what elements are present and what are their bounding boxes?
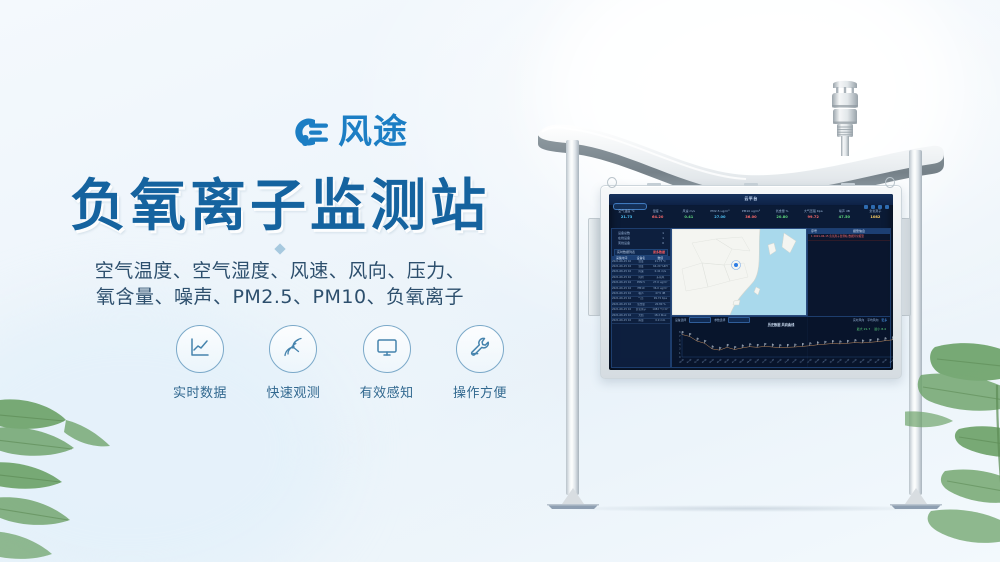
kpi-value: 21.73 xyxy=(611,214,642,220)
table-cell: 0.0 mm xyxy=(651,319,670,323)
table-cell: 20.80 % xyxy=(651,303,670,307)
support-pole-left xyxy=(566,140,579,495)
table-cell: 噪声 xyxy=(631,292,650,296)
svg-text:04:00: 04:00 xyxy=(709,358,715,364)
stat-value: 0 xyxy=(662,241,664,246)
display-housing: 云平台 空气温度 ℃ 21.73 xyxy=(600,185,902,379)
ground-shadow xyxy=(558,505,938,512)
chart-stat-min: 最小 8.4 xyxy=(874,327,886,331)
poster-canvas: 风途 负氧离子监测站 空气温度、空气湿度、风速、风向、压力、 氧含量、噪声、PM… xyxy=(0,0,1000,562)
table-cell: 2021-06-15 10:35 xyxy=(612,260,631,264)
table-cell: 温度 xyxy=(631,260,650,264)
svg-text:06:00: 06:00 xyxy=(724,358,730,364)
kpi-value: 0.41 xyxy=(673,214,704,220)
hanger-hook-left xyxy=(607,177,617,188)
table-cell: 27.0 ug/m³ xyxy=(651,281,670,285)
table-cell: 21.73 ℃ xyxy=(651,260,670,264)
kpi-value: 36.00 xyxy=(735,214,766,220)
svg-text:05:00: 05:00 xyxy=(717,358,723,364)
svg-text:16:00: 16:00 xyxy=(800,358,806,364)
history-line-chart: 013457800:0001:0002:0003:0004:0005:0006:… xyxy=(672,328,893,366)
feature-label: 实时数据 xyxy=(160,382,240,401)
table-cell: 气压 xyxy=(631,297,650,301)
svg-text:8: 8 xyxy=(679,331,681,334)
svg-text:14:00: 14:00 xyxy=(785,358,791,364)
kpi-strip: 空气温度 ℃ 21.73 湿度 % 64.20 风速 m/s 0.41 PM xyxy=(611,209,891,224)
chart-legend-2: 平均风向 xyxy=(867,318,878,322)
svg-text:3: 3 xyxy=(679,348,681,351)
table-cell: 64.20 %RH xyxy=(651,265,670,269)
table-cell: 36.0 ug/m³ xyxy=(651,287,670,291)
housing-tab-2 xyxy=(744,183,758,186)
svg-text:18:00: 18:00 xyxy=(815,358,821,364)
fengtu-c-logo-icon xyxy=(285,112,331,152)
alarm-row[interactable]: 1 2021-06-15 负氧离子监测站 数据异常报警 xyxy=(808,234,890,241)
svg-text:17:00: 17:00 xyxy=(807,358,813,364)
feature-label: 有效感知 xyxy=(347,382,427,401)
chart-select-label-2: 参数选择 xyxy=(714,318,725,322)
monitor-icon xyxy=(375,335,399,364)
hero-subtitle: 空气温度、空气湿度、风速、风向、压力、 氧含量、噪声、PM2.5、PM10、负氧… xyxy=(0,258,560,310)
wrench-icon xyxy=(468,335,492,364)
brand-logo: 风途 xyxy=(285,112,408,152)
kpi-value: 1082 xyxy=(860,214,891,220)
feature-icon-wrap xyxy=(456,325,504,373)
table-row[interactable]: 2021-06-15 10:35雨量0.0 mm xyxy=(612,319,670,324)
table-cell: 2021-06-15 10:35 xyxy=(612,265,631,269)
ultrasonic-weather-sensor-icon xyxy=(822,78,868,156)
table-cell: 氧含量 xyxy=(631,303,650,307)
table-cell: 2021-06-15 10:35 xyxy=(612,276,631,280)
table-cell: 2021-06-15 10:35 xyxy=(612,292,631,296)
svg-text:4: 4 xyxy=(679,344,681,347)
svg-text:20:00: 20:00 xyxy=(830,358,836,364)
alarm-col-index: 序号 xyxy=(811,229,817,233)
feature-item-realtime-data[interactable]: 实时数据 xyxy=(160,325,240,401)
kpi-value: 64.20 xyxy=(642,214,673,220)
table-cell: 47.5 dB xyxy=(651,292,670,296)
kpi-card: PM10 ug/m³ 36.00 xyxy=(735,209,766,224)
kpi-card: 空气温度 ℃ 21.73 xyxy=(611,209,642,224)
subtitle-line-2: 氧含量、噪声、PM2.5、PM10、负氧离子 xyxy=(0,284,560,310)
alarm-col-message: 报警信息 xyxy=(853,229,865,233)
table-cell: 雨量 xyxy=(631,319,650,323)
svg-text:19:00: 19:00 xyxy=(822,358,828,364)
table-cell: 风速 xyxy=(631,270,650,274)
feature-icon-wrap xyxy=(269,325,317,373)
table-cell: 2021-06-15 10:35 xyxy=(612,303,631,307)
kpi-card: 湿度 % 64.20 xyxy=(642,209,673,224)
svg-text:03:00: 03:00 xyxy=(702,358,708,364)
chart-more-button[interactable]: 更多 xyxy=(881,318,887,322)
dashboard-title: 云平台 xyxy=(609,196,893,202)
feature-icon-wrap xyxy=(176,325,224,373)
svg-text:03:00: 03:00 xyxy=(882,358,888,364)
table-cell: PM2.5 xyxy=(631,281,650,285)
svg-text:0: 0 xyxy=(679,356,681,359)
hanger-hook-right xyxy=(885,177,895,188)
svg-text:09:00: 09:00 xyxy=(747,358,753,364)
monitoring-station-device: 云平台 空气温度 ℃ 21.73 xyxy=(500,0,1000,562)
left-stats-panel: 设备总数 1 在线设备 1 离线设备 0 xyxy=(611,228,671,368)
svg-text:00:00: 00:00 xyxy=(679,358,685,364)
chart-stat-max: 最大 21.7 xyxy=(857,327,871,331)
svg-text:21:00: 21:00 xyxy=(837,358,843,364)
table-cell: 2021-06-15 10:35 xyxy=(612,319,631,323)
svg-text:15:00: 15:00 xyxy=(792,358,798,364)
table-cell: 2021-06-15 10:35 xyxy=(612,281,631,285)
history-chart-panel: 设备选择 参数选择 实时风向 平均风向 更多 历史数据 风向曲线 xyxy=(671,316,891,368)
svg-text:02:00: 02:00 xyxy=(875,358,881,364)
led-display-screen[interactable]: 云平台 空气温度 ℃ 21.73 xyxy=(609,194,893,370)
svg-text:11:00: 11:00 xyxy=(762,358,768,364)
stat-label: 离线设备 xyxy=(618,241,630,246)
table-cell: 2021-06-15 10:35 xyxy=(612,287,631,291)
brand-name: 风途 xyxy=(338,115,408,149)
data-table-title: 实时数据列表 xyxy=(617,250,635,254)
support-pole-right xyxy=(909,150,922,495)
svg-text:07:00: 07:00 xyxy=(732,358,738,364)
housing-tab-1 xyxy=(647,183,661,186)
table-cell: 2021-06-15 10:35 xyxy=(612,297,631,301)
table-cell: 风向 xyxy=(631,276,650,280)
svg-text:7: 7 xyxy=(679,335,681,338)
table-cell: 2021-06-15 10:35 xyxy=(612,308,631,312)
data-table-badge[interactable]: 更多数据 xyxy=(653,250,665,254)
kpi-card: 大气压强 Kpa 99.72 xyxy=(798,209,829,224)
kpi-value: 99.72 xyxy=(798,214,829,220)
svg-text:12:00: 12:00 xyxy=(769,358,775,364)
svg-text:01:00: 01:00 xyxy=(687,358,693,364)
svg-text:10:00: 10:00 xyxy=(754,358,760,364)
stat-row: 离线设备 0 xyxy=(612,241,670,246)
line-chart-icon xyxy=(188,335,212,364)
parameter-select[interactable] xyxy=(728,317,750,323)
dashboard-ui: 云平台 空气温度 ℃ 21.73 xyxy=(609,194,893,370)
page-title: 负氧离子监测站 xyxy=(0,161,560,242)
kpi-card: PM2.5 ug/m³ 27.00 xyxy=(704,209,735,224)
chart-select-label-1: 设备选择 xyxy=(675,318,686,322)
device-distribution-map[interactable] xyxy=(671,228,807,316)
table-cell: 负氧离子 xyxy=(631,308,650,312)
feature-label: 快速观测 xyxy=(253,382,333,401)
table-cell: 东南风 xyxy=(651,276,670,280)
kpi-value: 47.50 xyxy=(829,214,860,220)
radar-signal-icon xyxy=(281,335,305,364)
table-cell: 湿度 xyxy=(631,265,650,269)
dashboard-body: 设备总数 1 在线设备 1 离线设备 0 xyxy=(609,227,893,370)
svg-text:01:00: 01:00 xyxy=(867,358,873,364)
svg-text:02:00: 02:00 xyxy=(694,358,700,364)
table-cell: PM10 xyxy=(631,287,650,291)
svg-text:08:00: 08:00 xyxy=(739,358,745,364)
svg-text:04:00: 04:00 xyxy=(890,358,893,364)
svg-text:23:00: 23:00 xyxy=(852,358,858,364)
table-cell: 1082 个/cm³ xyxy=(651,308,670,312)
svg-text:00:00: 00:00 xyxy=(860,358,866,364)
svg-text:13:00: 13:00 xyxy=(777,358,783,364)
feature-list: 实时数据 快 xyxy=(160,325,520,401)
table-cell: 18.2 Klux xyxy=(651,314,670,318)
title-diamond-divider xyxy=(274,243,285,254)
chart-stats: 最大 21.7 最小 8.4 xyxy=(857,327,886,331)
table-cell: 0.41 m/s xyxy=(651,270,670,274)
svg-text:22:00: 22:00 xyxy=(845,358,851,364)
feature-icon-wrap xyxy=(363,325,411,373)
kpi-value: 27.00 xyxy=(704,214,735,220)
housing-tab-3 xyxy=(841,183,855,186)
data-table-body[interactable]: 2021-06-15 10:35温度21.73 ℃2021-06-15 10:3… xyxy=(612,260,670,325)
svg-text:1: 1 xyxy=(679,352,681,355)
kpi-card: 噪声 dB 47.50 xyxy=(829,209,860,224)
table-cell: 光照 xyxy=(631,314,650,318)
hero-text-column: 风途 负氧离子监测站 空气温度、空气湿度、风速、风向、压力、 氧含量、噪声、PM… xyxy=(0,0,560,562)
feature-item-fast-observation[interactable]: 快速观测 xyxy=(253,325,333,401)
kpi-card: 负氧离子 1082 xyxy=(860,209,891,224)
feature-item-effective-sensing[interactable]: 有效感知 xyxy=(347,325,427,401)
svg-text:5: 5 xyxy=(679,339,681,342)
table-cell: 99.72 Kpa xyxy=(651,297,670,301)
chart-legend-1: 实时风向 xyxy=(853,318,864,322)
kpi-card: 风速 m/s 0.41 xyxy=(673,209,704,224)
kpi-card: 氧含量 % 20.80 xyxy=(767,209,798,224)
kpi-value: 20.80 xyxy=(767,214,798,220)
table-cell: 2021-06-15 10:35 xyxy=(612,270,631,274)
table-cell: 2021-06-15 10:35 xyxy=(612,314,631,318)
subtitle-line-1: 空气温度、空气湿度、风速、风向、压力、 xyxy=(0,258,560,284)
device-select[interactable] xyxy=(689,317,711,323)
